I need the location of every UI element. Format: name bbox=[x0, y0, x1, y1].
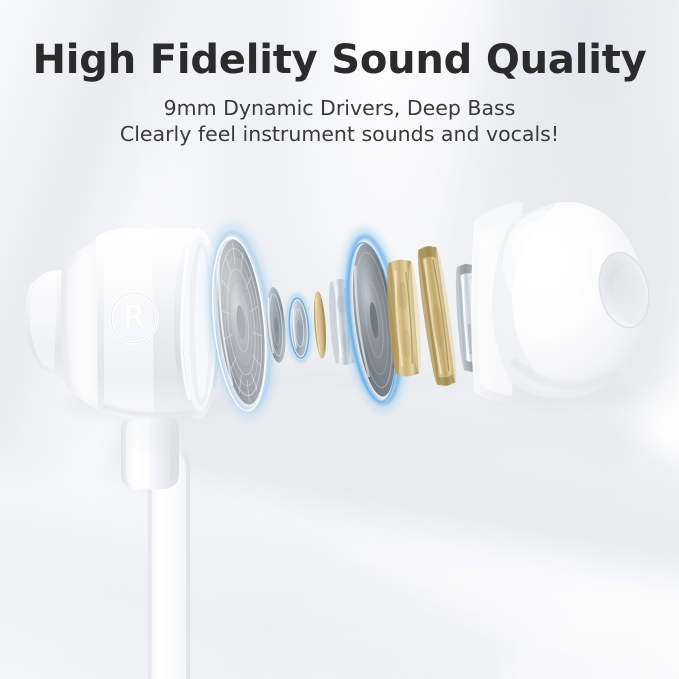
cable bbox=[121, 414, 190, 679]
subtitle-line-1: 9mm Dynamic Drivers, Deep Bass bbox=[0, 95, 679, 121]
small-diaphragm-disc bbox=[286, 294, 313, 361]
silicone-eartip bbox=[471, 202, 655, 404]
channel-letter: R bbox=[124, 301, 145, 336]
gold-coil-ring bbox=[414, 244, 459, 387]
headline-block: High Fidelity Sound Quality 9mm Dynamic … bbox=[0, 40, 679, 147]
subtitle-line-2: Clearly feel instrument sounds and vocal… bbox=[0, 121, 679, 147]
page-title: High Fidelity Sound Quality bbox=[0, 40, 679, 80]
ambient-shadow bbox=[60, 402, 620, 458]
gold-thin-disc bbox=[312, 291, 328, 360]
promo-card: High Fidelity Sound Quality 9mm Dynamic … bbox=[0, 0, 679, 679]
